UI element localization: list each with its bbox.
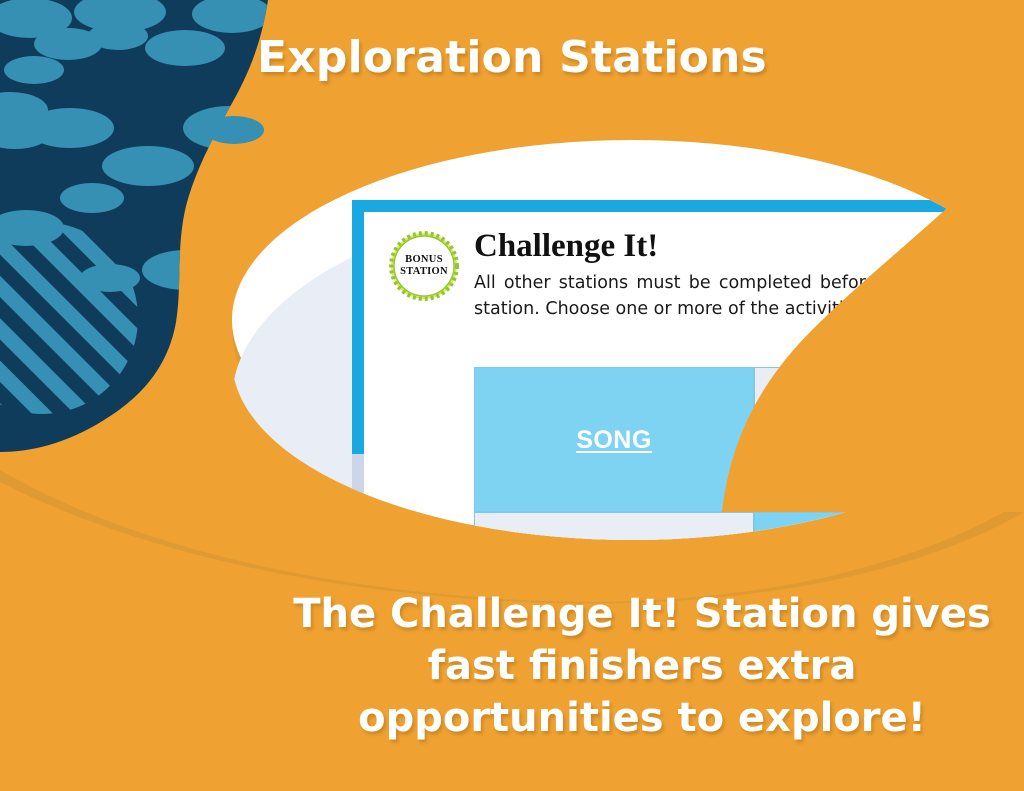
badge-line-2: STATION: [400, 266, 448, 278]
page-title: Exploration Stations: [0, 32, 1024, 84]
activity-link-social-media-post[interactable]: SOCIAL MEDIA POST: [762, 425, 1024, 455]
worksheet-left-border: [352, 200, 364, 454]
teal-dot-float-b: [204, 602, 260, 634]
badge-line-1: BONUS: [405, 254, 443, 266]
kesler-science-logo: KESL SCIENC: [972, 222, 1024, 252]
caption-line-1: The Challenge It! Station gives: [262, 588, 1022, 640]
logo-line-2: SCIENC: [972, 237, 1024, 252]
worksheet-top-border: [352, 200, 1024, 212]
caption-line-2: fast finishers extra: [262, 640, 1022, 692]
bonus-station-badge: BONUS STATION: [386, 228, 462, 304]
activity-cell-song[interactable]: SONG: [474, 367, 754, 512]
badge-text: BONUS STATION: [386, 228, 462, 304]
activity-cell-row2-left[interactable]: [474, 512, 754, 540]
worksheet-oval-clip: BONUS STATION Challenge It! All other st…: [232, 140, 1024, 540]
activity-link-song[interactable]: SONG: [576, 425, 652, 455]
worksheet-body: BONUS STATION Challenge It! All other st…: [364, 212, 1024, 540]
worksheet: BONUS STATION Challenge It! All other st…: [352, 200, 1024, 540]
teal-dot-float-a: [204, 116, 264, 144]
worksheet-title: Challenge It!: [474, 228, 658, 264]
caption-line-3: opportunities to explore!: [262, 692, 1022, 744]
activity-cell-row2-right[interactable]: [754, 512, 1024, 540]
page-caption: The Challenge It! Station gives fast fin…: [262, 588, 1022, 744]
slide-canvas: BONUS STATION Challenge It! All other st…: [0, 0, 1024, 791]
worksheet-left-border-pale: [352, 454, 364, 540]
worksheet-instructions: All other stations must be completed bef…: [474, 270, 1014, 322]
activity-grid: SONG SOCIAL MEDIA POST: [474, 367, 1024, 540]
navy-blob-bottom: [0, 540, 300, 791]
activity-cell-social-media-post[interactable]: SOCIAL MEDIA POST: [754, 367, 1024, 512]
